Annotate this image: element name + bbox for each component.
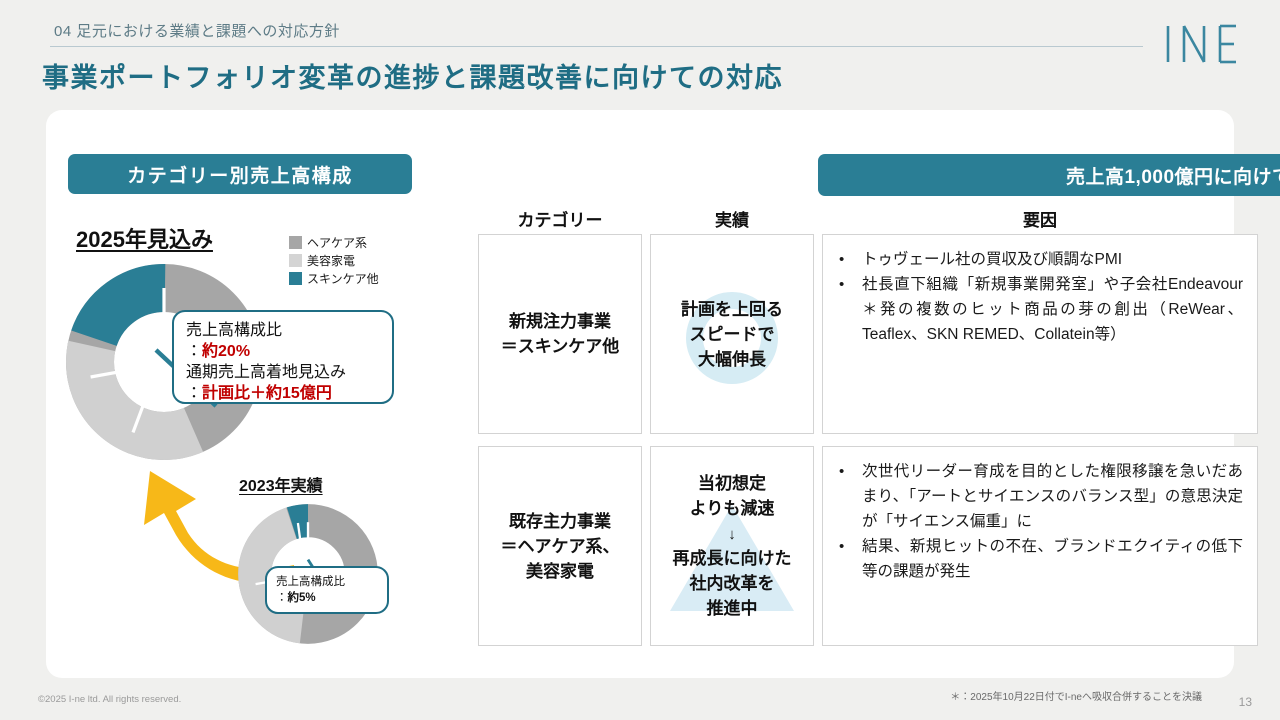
row-1-category-line-1: 新規注力事業 <box>509 312 611 331</box>
row-2-factor-item-2: 結果、新規ヒットの不在、ブランドエクイティの低下等の課題が発生 <box>833 534 1243 584</box>
progress-table-panel: 売上高1,000億円に向けての進捗 カテゴリー 実績 要因 新規注力事業 ＝スキ… <box>432 110 1234 678</box>
slide-footer: ©2025 I-ne ltd. All rights reserved. ＊：2… <box>0 680 1280 720</box>
callout-2025-composition-ratio: 約20% <box>202 343 250 360</box>
callout-2023-line2-prefix: ： <box>276 592 288 604</box>
content-card: カテゴリー別売上高構成 2025年見込み ヘアケア系 <box>46 110 1234 678</box>
section-label: 04 足元における業績と課題への対応方針 <box>54 20 340 41</box>
legend-swatch-skincare <box>289 272 302 285</box>
row-2-result-line-6: 推進中 <box>707 599 758 618</box>
right-panel-title: 売上高1,000億円に向けての進捗 <box>818 154 1280 196</box>
row-1-result-line-2: スピードで <box>690 325 775 344</box>
callout-2025-line4-prefix: ： <box>186 385 202 402</box>
column-header-category: カテゴリー <box>478 206 642 231</box>
legend-item-beauty-appliance: 美容家電 <box>289 252 419 269</box>
legend-label-haircare: ヘアケア系 <box>307 234 367 251</box>
callout-2023-line1: 売上高構成比 <box>276 574 387 590</box>
table-row-2-factor-cell: 次世代リーダー育成を目的とした権限移譲を急いだあまり、「アートとサイエンスのバラ… <box>822 446 1258 646</box>
callout-2025-plan-delta: 計画比＋約15億円 <box>202 385 332 402</box>
row-1-factor-item-2: 社長直下組織「新規事業開発室」や子会社Endeavour＊発の複数のヒット商品の… <box>833 272 1243 347</box>
callout-2023-line2: ：約5% <box>276 590 387 606</box>
table-row-2-result-cell: 当初想定 よりも減速 ↓ 再成長に向けた 社内改革を 推進中 <box>650 446 814 646</box>
footnote-text: ＊：2025年10月22日付でI-neへ吸収合併することを決議 <box>950 688 1202 703</box>
legend-swatch-haircare <box>289 236 302 249</box>
row-2-category-line-1: 既存主力事業 <box>509 512 611 531</box>
row-2-factor-item-1: 次世代リーダー育成を目的とした権限移譲を急いだあまり、「アートとサイエンスのバラ… <box>833 459 1243 534</box>
row-1-factor-list: トゥヴェール社の買収及び順調なPMI 社長直下組織「新規事業開発室」や子会社En… <box>833 247 1243 347</box>
callout-2023-composition-ratio: 約5% <box>288 592 316 604</box>
row-2-result-line-4: 再成長に向けた <box>673 549 792 568</box>
page-title: 事業ポートフォリオ変革の進捗と課題改善に向けての対応 <box>42 56 783 95</box>
chart-legend: ヘアケア系 美容家電 スキンケア他 <box>289 234 419 288</box>
legend-item-haircare: ヘアケア系 <box>289 234 419 251</box>
column-header-factor: 要因 <box>822 206 1258 231</box>
callout-2025-line3: 通期売上高着地見込み <box>186 362 382 383</box>
table-row-1-factor-cell: トゥヴェール社の買収及び順調なPMI 社長直下組織「新規事業開発室」や子会社En… <box>822 234 1258 434</box>
callout-2025: 売上高構成比 ：約20% 通期売上高着地見込み ：計画比＋約15億円 <box>172 310 394 404</box>
column-header-result: 実績 <box>650 206 814 231</box>
legend-label-beauty-appliance: 美容家電 <box>307 252 355 269</box>
i-ne-logo-icon <box>1162 22 1238 66</box>
legend-label-skincare: スキンケア他 <box>307 270 379 287</box>
left-panel-title: カテゴリー別売上高構成 <box>68 154 412 194</box>
row-1-result-line-1: 計画を上回る <box>681 300 783 319</box>
row-1-category-line-2: ＝スキンケア他 <box>501 337 620 356</box>
page-number: 13 <box>1239 695 1252 709</box>
callout-2023: 売上高構成比 ：約5% <box>265 566 389 614</box>
donut-2025-caption: 2025年見込み <box>76 222 213 254</box>
row-2-result-line-5: 社内改革を <box>690 574 775 593</box>
legend-swatch-beauty-appliance <box>289 254 302 267</box>
table-row-1-result-cell: 計画を上回る スピードで 大幅伸長 <box>650 234 814 434</box>
legend-item-skincare: スキンケア他 <box>289 270 419 287</box>
copyright-text: ©2025 I-ne ltd. All rights reserved. <box>38 694 181 705</box>
sales-composition-panel: カテゴリー別売上高構成 2025年見込み ヘアケア系 <box>46 110 432 678</box>
table-row-2-category-cell: 既存主力事業 ＝ヘアケア系、 美容家電 <box>478 446 642 646</box>
row-2-result-line-1: 当初想定 <box>698 474 766 493</box>
callout-2025-line2-prefix: ： <box>186 343 202 360</box>
callout-2025-line1: 売上高構成比 <box>186 320 382 341</box>
callout-2025-line4: ：計画比＋約15億円 <box>186 383 382 404</box>
header-divider <box>50 46 1143 47</box>
table-row-1-category-cell: 新規注力事業 ＝スキンケア他 <box>478 234 642 434</box>
slide-header: 04 足元における業績と課題への対応方針 事業ポートフォリオ変革の進捗と課題改善… <box>0 0 1280 105</box>
donut-2023-caption: 2023年実績 <box>239 472 323 496</box>
row-1-result-line-3: 大幅伸長 <box>698 350 766 369</box>
row-2-category-line-3: 美容家電 <box>526 562 594 581</box>
down-arrow-icon: ↓ <box>728 526 736 543</box>
row-2-category-line-2: ＝ヘアケア系、 <box>501 537 620 556</box>
row-1-factor-item-1: トゥヴェール社の買収及び順調なPMI <box>833 247 1243 272</box>
row-2-result-line-2: よりも減速 <box>690 499 775 518</box>
row-2-factor-list: 次世代リーダー育成を目的とした権限移譲を急いだあまり、「アートとサイエンスのバラ… <box>833 459 1243 584</box>
callout-2025-line2: ：約20% <box>186 341 382 362</box>
